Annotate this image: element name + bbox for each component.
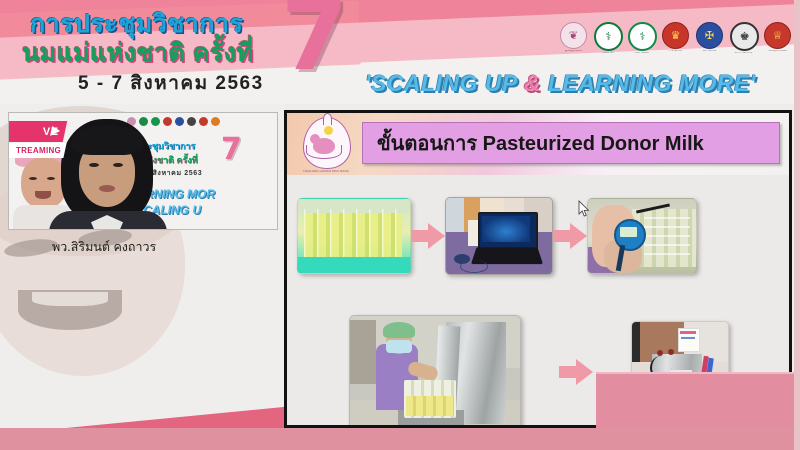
backdrop-logo-7 — [199, 117, 208, 126]
logo-caption-1: มูลนิธิศูนย์นมแม่ — [561, 50, 587, 53]
department-health-logo: ⚕กรมการแพทย์ — [628, 22, 655, 55]
process-arrow-1 — [411, 223, 445, 249]
conference-title-line2: นมแม่แห่งชาติ ครั้งที่ — [22, 33, 254, 73]
p4-milk-bottles-filled — [406, 396, 454, 416]
slide-title: ขั้นตอนการ Pasteurized Donor Milk — [377, 127, 704, 159]
p3-thermometer-display — [620, 227, 637, 237]
pediatric-society-logo: ♕ชมรมกุมารแพทย์ — [764, 22, 791, 53]
speaker-mouth — [99, 185, 115, 192]
royal-college-logo: ♛ราชวิทยาลัย — [662, 22, 689, 53]
video-backdrop-number: 7 — [221, 135, 242, 165]
logo-mark-2: ⚕ — [594, 22, 623, 51]
backdrop-logo-6 — [187, 117, 196, 126]
process-arrow-2 — [553, 223, 587, 249]
live-video-panel[interactable]: การประชุมวิชาการ นมแม่แห่งชาติ ครั้งที่ … — [8, 112, 278, 230]
slogan-part2: LEARNING MORE' — [541, 70, 756, 96]
logo-mark-4: ♛ — [662, 22, 689, 49]
live-badge-top: VE — [8, 121, 67, 142]
milk-drop-highlight — [324, 126, 333, 135]
logo-caption-5: มหาวิทยาลัย — [697, 50, 723, 53]
logo-caption-2: กรมอนามัย — [595, 52, 621, 55]
conference-slogan: 'SCALING UP & LEARNING MORE' — [365, 70, 756, 97]
play-icon — [50, 126, 61, 136]
p4-cabinet — [350, 320, 376, 384]
speaker-eye-left — [89, 163, 99, 167]
speaker-eye-right — [113, 163, 123, 167]
p4-nurse-cap — [383, 322, 415, 338]
p2-cable — [460, 260, 488, 273]
video-child-eye-left — [29, 177, 37, 180]
process-arrow-3 — [559, 359, 593, 385]
p5-knob-right — [668, 349, 674, 355]
photo-milk-bottles-rack — [297, 198, 411, 274]
conference-date: 5 - 7 สิงหาคม 2563 — [78, 68, 264, 98]
human-milk-bank-logo: THAILAND HUMAN MILK BANK — [297, 117, 355, 173]
slogan-ampersand: & — [524, 70, 541, 96]
arrow-head — [428, 223, 445, 249]
p5-sign-text-line2 — [681, 337, 695, 339]
p2-screen-glow — [482, 216, 530, 242]
video-child-eye-right — [47, 177, 55, 180]
streaming-badge-text: TREAMING — [16, 146, 61, 155]
logo-mark-6: ♚ — [730, 22, 759, 51]
p1-bottle-lines — [304, 209, 402, 261]
logo-caption-7: ชมรมกุมารแพทย์ — [765, 50, 791, 53]
logo-mark-5: ✠ — [696, 22, 723, 49]
arrow-head — [576, 359, 593, 385]
p4-nurse-mask — [386, 340, 412, 353]
backdrop-logo-4 — [163, 117, 172, 126]
p3-milk-bags — [644, 215, 690, 255]
child-teeth — [32, 292, 108, 306]
baby-head-icon — [310, 134, 320, 144]
process-row-top — [297, 197, 779, 275]
p1-pallet — [298, 257, 410, 273]
bottom-pink-strip — [0, 428, 800, 450]
milk-bank-logo-caption: THAILAND HUMAN MILK BANK — [295, 169, 357, 173]
sponsor-logo-row: ❦มูลนิธิศูนย์นมแม่ ⚕กรมอนามัย ⚕กรมการแพท… — [560, 22, 800, 55]
photo-thermometer-check — [587, 198, 697, 274]
live-streaming-badge: VE TREAMING — [8, 121, 65, 161]
right-pink-edge — [794, 0, 800, 450]
photo-nurse-pasteurizer — [349, 315, 521, 428]
speaker-bangs — [71, 125, 143, 155]
logo-caption-6: สภาการพยาบาล — [731, 52, 757, 55]
ministry-public-health-logo: ⚕กรมอนามัย — [594, 22, 621, 55]
conference-header: การประชุมวิชาการ นมแม่แห่งชาติ ครั้งที่ … — [0, 0, 800, 104]
p5-sign-text-line1 — [680, 331, 696, 334]
thai-breastfeeding-foundation-logo: ❦มูลนิธิศูนย์นมแม่ — [560, 22, 587, 53]
slide-screenshot: การประชุมวิชาการ นมแม่แห่งชาติ ครั้งที่ … — [0, 0, 800, 450]
speaker-webcam-figure — [61, 119, 153, 230]
logo-caption-3: กรมการแพทย์ — [629, 52, 655, 55]
backdrop-logo-5 — [175, 117, 184, 126]
logo-mark-1: ❦ — [560, 22, 587, 49]
video-child-mouth — [35, 191, 51, 199]
slide-title-banner: ขั้นตอนการ Pasteurized Donor Milk — [362, 122, 780, 164]
university-emblem-logo: ✠มหาวิทยาลัย — [696, 22, 723, 53]
logo-caption-4: ราชวิทยาลัย — [663, 50, 689, 53]
logo-mark-3: ⚕ — [628, 22, 657, 51]
speaker-name-label: พว.สิริมนต์ คงถาวร — [52, 237, 156, 257]
slogan-part1: 'SCALING UP — [365, 70, 524, 96]
photo-laptop-data-entry — [445, 197, 553, 275]
live-badge-bottom: TREAMING — [8, 143, 67, 158]
mouse-cursor — [578, 200, 590, 218]
logo-mark-7: ♕ — [764, 22, 791, 49]
arrow-head — [570, 223, 587, 249]
nursing-council-logo: ♚สภาการพยาบาล — [730, 22, 757, 55]
backdrop-logo-8 — [211, 117, 220, 126]
conference-edition-number: 7 — [281, 0, 348, 84]
